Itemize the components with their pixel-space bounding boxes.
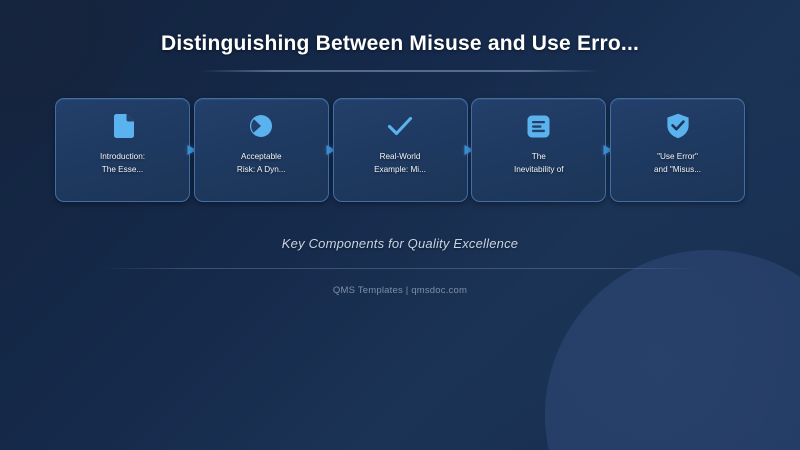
flow-card-label: Introduction: The Esse... <box>94 150 151 176</box>
flow-card-label: Real-World Example: Mi... <box>368 150 432 176</box>
process-flow: Introduction: The Esse... Acceptable Ris… <box>55 98 745 202</box>
footer-attribution: QMS Templates | qmsdoc.com <box>0 285 800 296</box>
flow-card-label-line2: and "Misus... <box>654 163 701 176</box>
flow-card-label-line2: Example: Mi... <box>374 163 426 176</box>
flow-card-label-line1: Acceptable <box>237 150 286 163</box>
flow-card-label-line1: Introduction: <box>100 150 145 163</box>
flow-card-3[interactable]: Real-World Example: Mi... <box>333 98 468 202</box>
pie-circle-icon <box>248 112 274 140</box>
slide-canvas: Distinguishing Between Misuse and Use Er… <box>0 0 800 450</box>
flow-card-5[interactable]: "Use Error" and "Misus... <box>610 98 745 202</box>
flow-card-4[interactable]: The Inevitability of <box>471 98 606 202</box>
arrow-right-icon-2 <box>329 98 333 202</box>
flow-card-label-line2: The Esse... <box>100 163 145 176</box>
footer-divider <box>100 268 700 269</box>
flow-card-label-line1: "Use Error" <box>654 150 701 163</box>
decorative-circle-mid-left <box>0 250 60 370</box>
flow-card-label: "Use Error" and "Misus... <box>648 150 707 176</box>
flow-card-label-line2: Risk: A Dyn... <box>237 163 286 176</box>
flow-card-2[interactable]: Acceptable Risk: A Dyn... <box>194 98 329 202</box>
page-title: Distinguishing Between Misuse and Use Er… <box>0 32 800 56</box>
title-divider <box>200 70 600 72</box>
list-document-icon <box>526 112 552 140</box>
checkmark-icon <box>387 112 413 140</box>
flow-card-label-line1: The <box>514 150 564 163</box>
flow-card-label: The Inevitability of <box>508 150 570 176</box>
slide-subtitle: Key Components for Quality Excellence <box>0 236 800 251</box>
decorative-circle-bottom-right <box>545 250 800 450</box>
flow-card-1[interactable]: Introduction: The Esse... <box>55 98 190 202</box>
flow-card-label-line1: Real-World <box>374 150 426 163</box>
shield-check-icon <box>665 112 691 140</box>
flow-card-label-line2: Inevitability of <box>514 163 564 176</box>
flow-card-label: Acceptable Risk: A Dyn... <box>231 150 292 176</box>
document-icon <box>110 112 136 140</box>
